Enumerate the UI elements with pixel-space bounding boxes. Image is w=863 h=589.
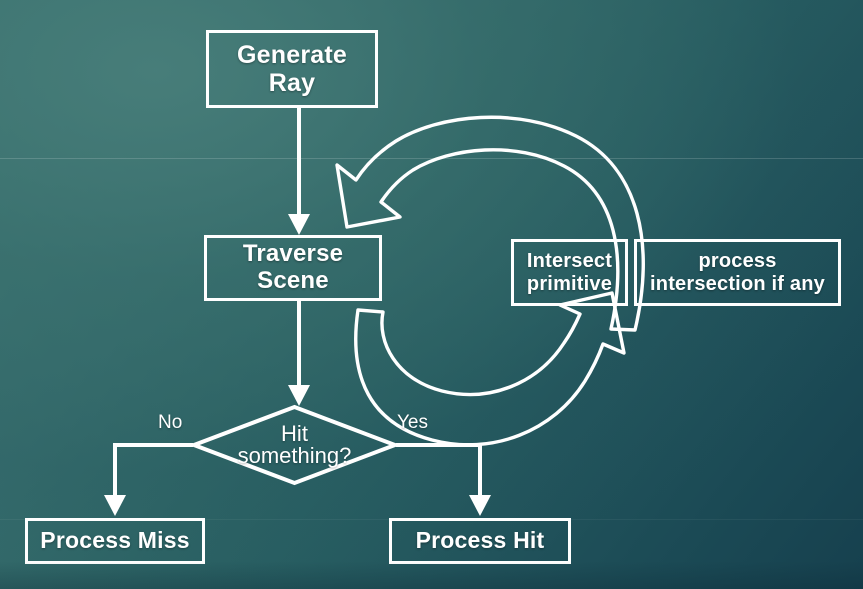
node-process-hit[interactable]: Process Hit [389,518,571,564]
node-process-intersection[interactable]: process intersection if any [634,239,841,306]
bottom-vignette-band [0,561,863,589]
node-process-miss[interactable]: Process Miss [25,518,205,564]
background-guide-line-top [0,158,863,159]
decision-label: Hit something? [193,406,396,484]
edge-label-no: No [158,412,182,434]
node-intersect-primitive[interactable]: Intersect primitive [511,239,628,306]
edge-decision-yes-to-process-hit [396,445,491,516]
node-decision-hit-something[interactable]: Hit something? [193,406,396,484]
edge-traverse-to-decision [288,301,310,406]
slide-canvas: Generate Ray Traverse Scene Intersect pr… [0,0,863,589]
node-traverse-scene[interactable]: Traverse Scene [204,235,382,301]
edge-decision-no-to-process-miss [104,445,193,516]
node-generate-ray[interactable]: Generate Ray [206,30,378,108]
edge-generate-ray-to-traverse [288,108,310,235]
edge-label-yes: Yes [397,412,428,434]
